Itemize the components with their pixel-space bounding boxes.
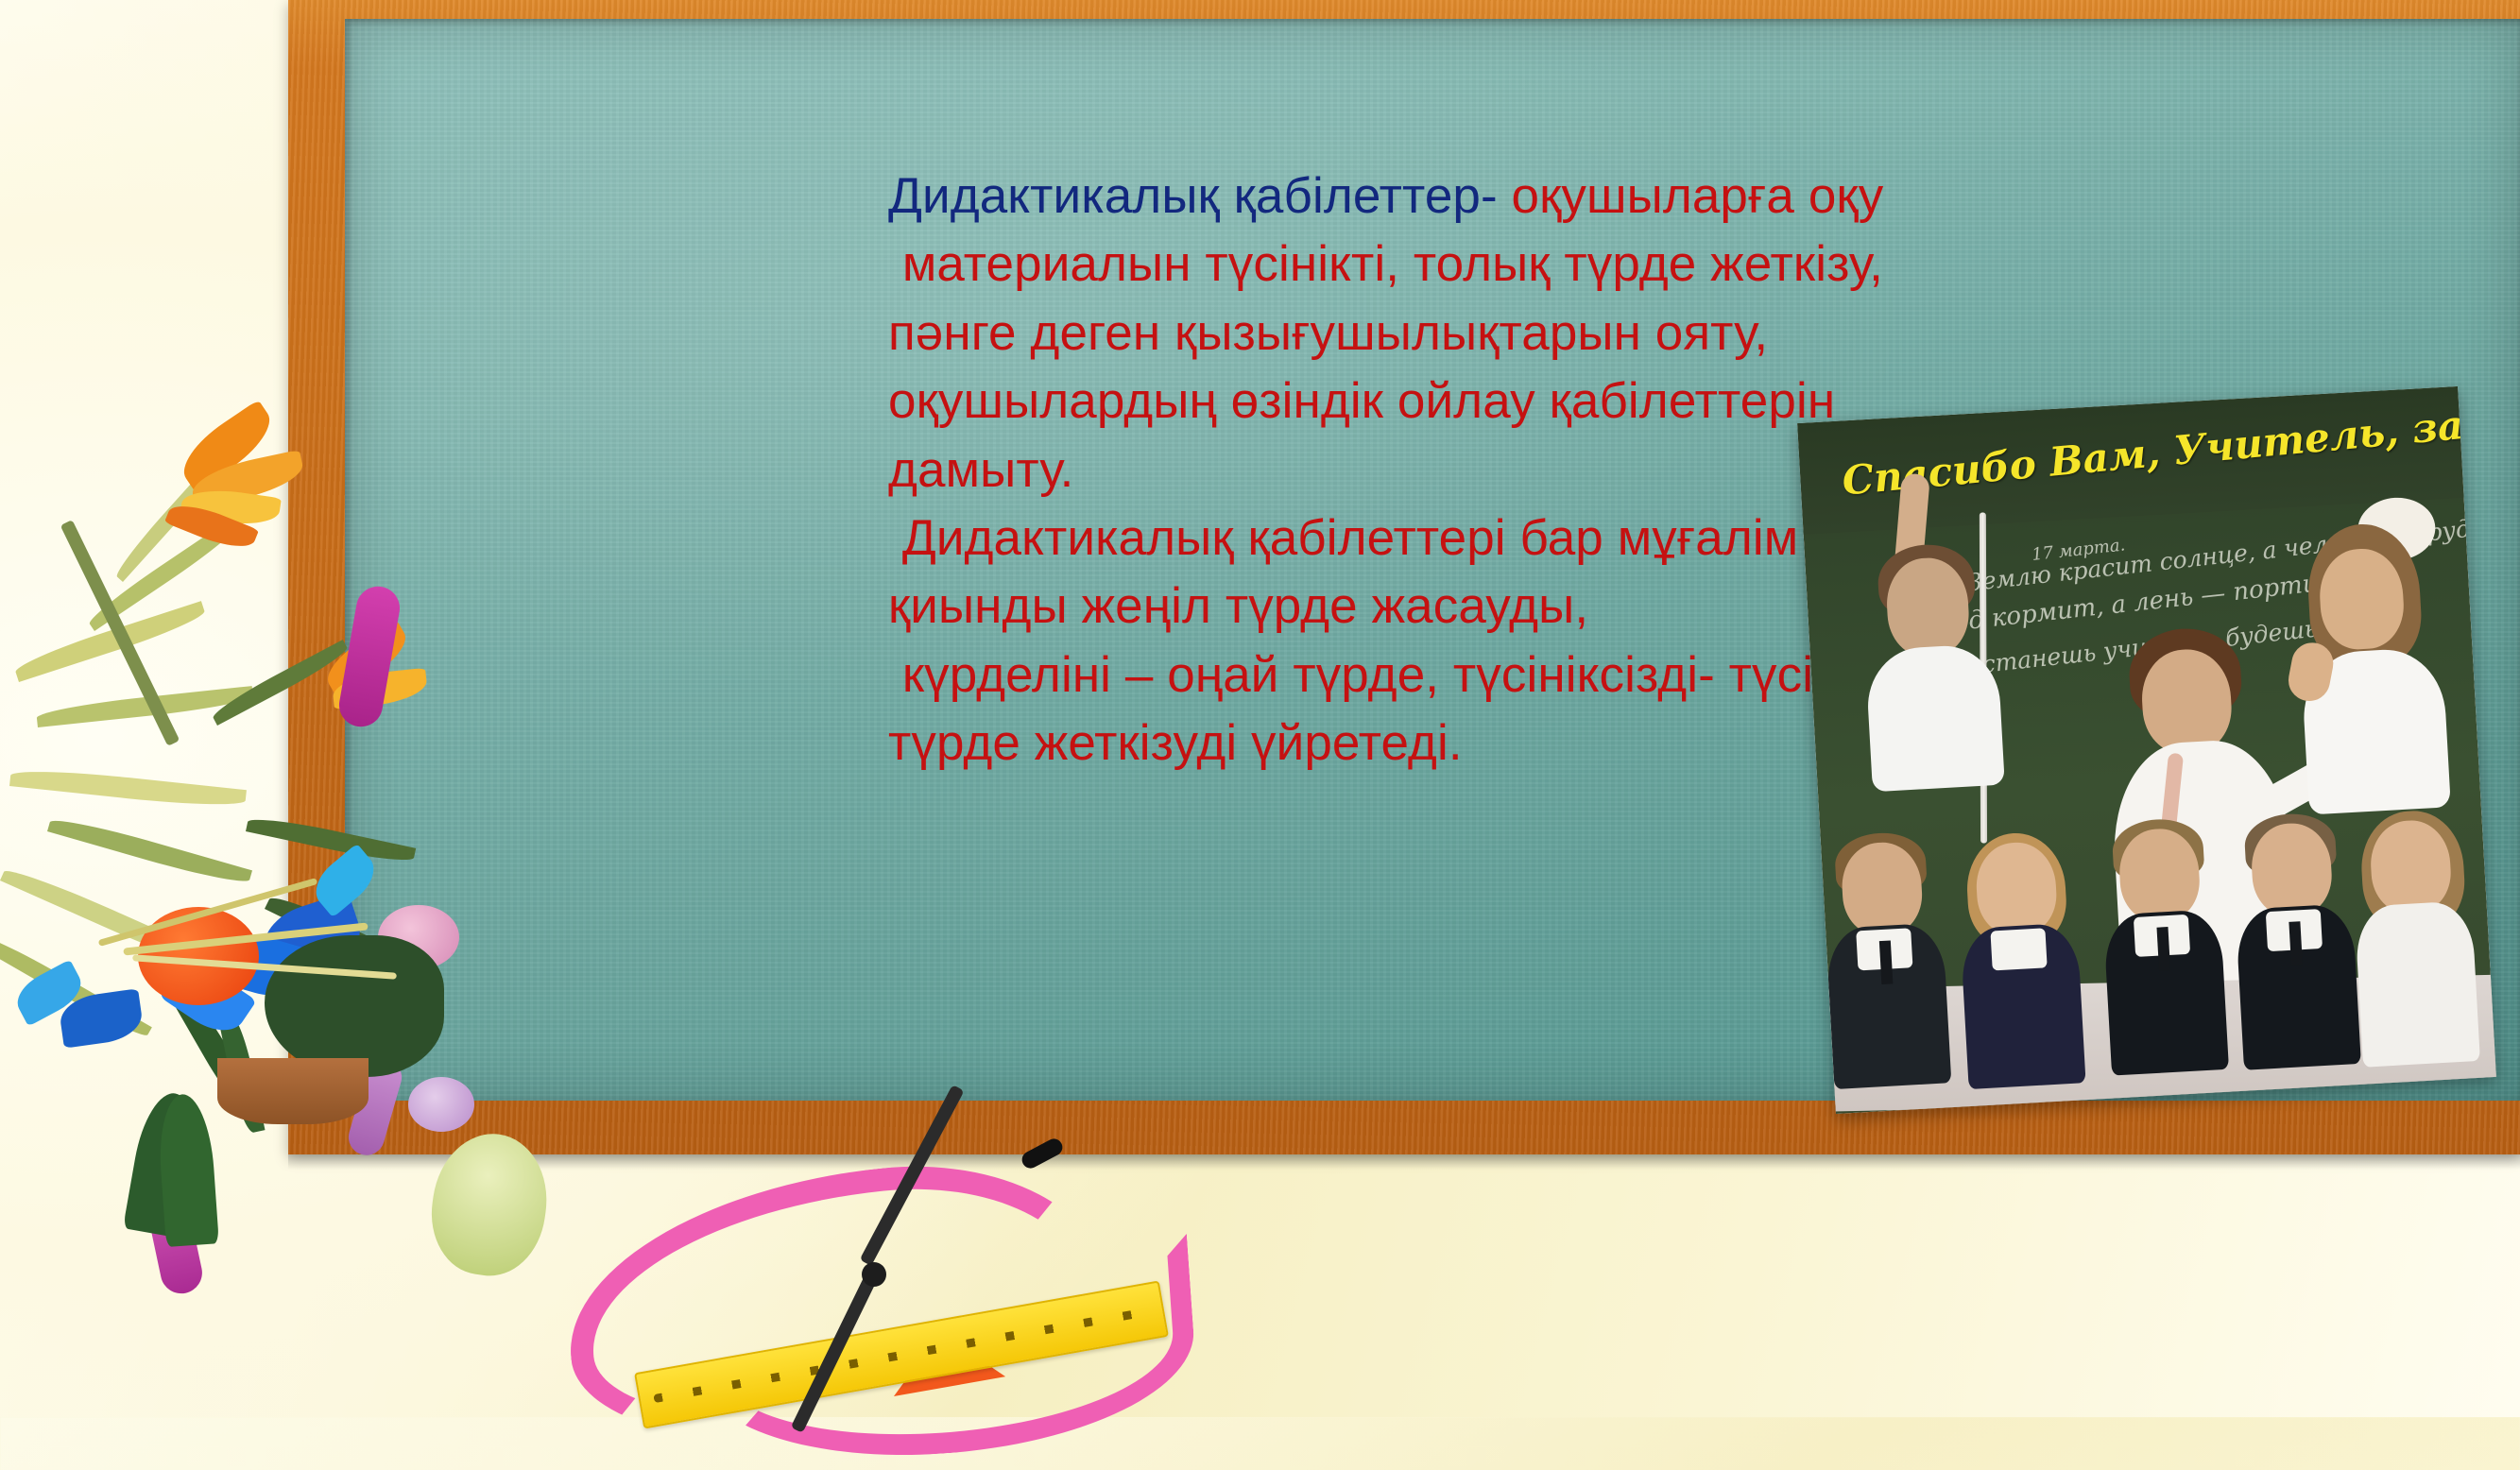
student-boy-1 bbox=[1826, 839, 1960, 1101]
tie bbox=[2289, 921, 2303, 966]
compass-hinge bbox=[862, 1262, 886, 1287]
leaf bbox=[246, 812, 416, 866]
student-girl-with-bow bbox=[2287, 503, 2455, 812]
lilac-bloom bbox=[408, 1077, 474, 1132]
torso bbox=[1865, 643, 2005, 793]
collar bbox=[1990, 928, 2047, 970]
student-girl-1 bbox=[1961, 839, 2093, 1093]
presentation-slide: Дидактикалық қабілеттер- оқушыларға оқу … bbox=[0, 0, 2520, 1417]
heading-term: Дидактикалық қабілеттер- bbox=[888, 168, 1498, 224]
school-supplies bbox=[529, 1164, 1361, 1417]
student-row bbox=[1819, 765, 2496, 1114]
student-girl-2 bbox=[2356, 817, 2488, 1071]
leaf bbox=[9, 765, 247, 811]
student-boy-3 bbox=[2237, 820, 2370, 1078]
torso bbox=[2355, 900, 2480, 1068]
text-line-1: Дидактикалық қабілеттер- оқушыларға оқу bbox=[888, 168, 2145, 225]
tie bbox=[1879, 940, 1894, 984]
dark-foliage bbox=[265, 935, 444, 1077]
student-girl-raising-hand bbox=[1852, 519, 2008, 791]
leaf bbox=[47, 813, 252, 889]
leaf bbox=[156, 1092, 219, 1247]
flower-pot bbox=[217, 1058, 369, 1124]
text-line-2: материалын түсінікті, толық түрде жеткіз… bbox=[888, 236, 2145, 293]
student-boy-2 bbox=[2104, 826, 2237, 1085]
tie bbox=[2156, 927, 2170, 971]
text-line-1-cont: оқушыларға оқу bbox=[1498, 168, 1884, 224]
text-line-3: пәнге деген қызығушылықтарын ояту, bbox=[888, 305, 2145, 362]
flower-bouquet bbox=[0, 529, 567, 1247]
classroom-photo: Спасибо Вам, Учитель, за урок. 17 марта.… bbox=[1797, 386, 2496, 1114]
